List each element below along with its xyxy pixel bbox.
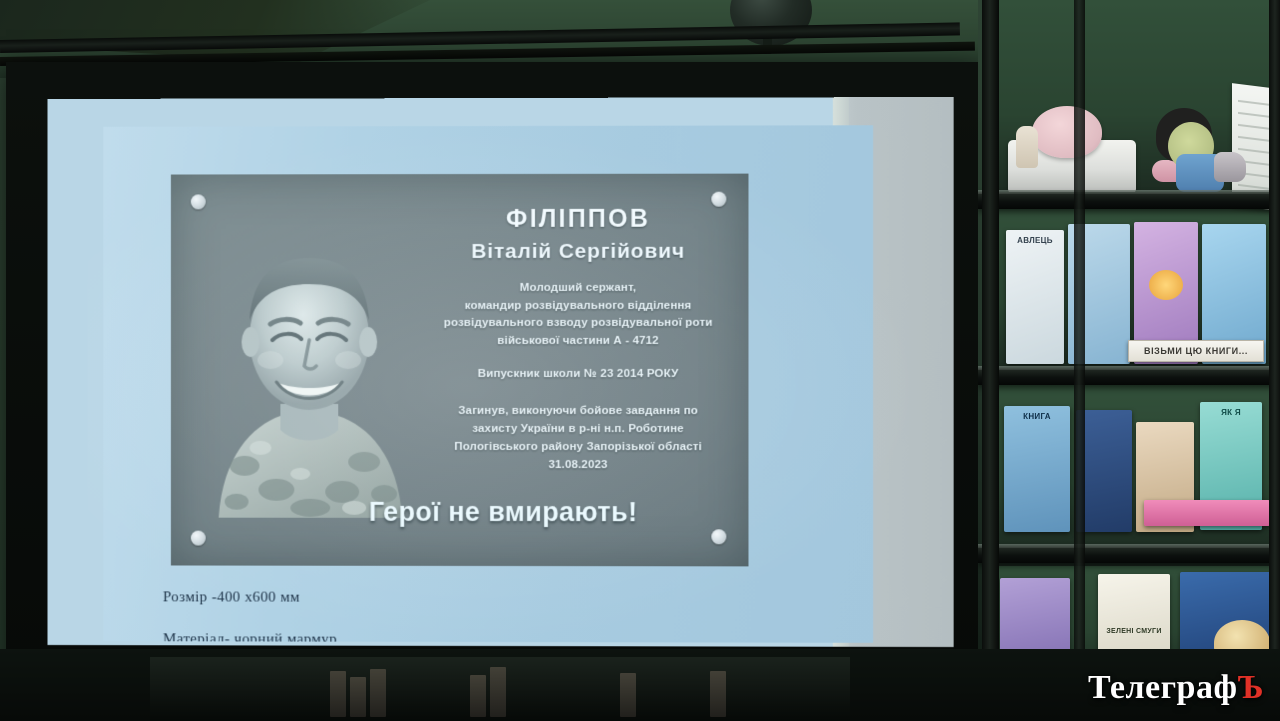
plaque-text-block: ФІЛІППОВ Віталій Сергійович Молодший сер… bbox=[420, 196, 736, 475]
shelf-board bbox=[978, 192, 1280, 209]
bookcase: АВЛЕЦЬ ВІЗЬМИ ЦЮ КНИГИ... КНИГА ЯК Я bbox=[978, 0, 1280, 721]
take-a-book-sign: ВІЗЬМИ ЦЮ КНИГИ... bbox=[1128, 340, 1264, 362]
book-cover-flat bbox=[1144, 500, 1270, 526]
plaque-school-line: Випускник школи № 23 2014 РОКУ bbox=[420, 368, 736, 380]
book-title: АВЛЕЦЬ bbox=[1009, 237, 1061, 246]
shelf-lip bbox=[978, 366, 1280, 370]
plaque-rank-line: військової частини А - 4712 bbox=[420, 333, 736, 351]
plaque-given-name: Віталій Сергійович bbox=[420, 238, 736, 264]
doll-shoe bbox=[1214, 152, 1246, 182]
shelf-three-items: КНИГА ЯК Я bbox=[996, 392, 1280, 544]
plaque-screw-top-left bbox=[191, 194, 206, 209]
soldier-portrait-engraving bbox=[215, 218, 404, 518]
book-title: КНИГА bbox=[1007, 413, 1067, 422]
book-illustration-sun bbox=[1149, 270, 1183, 300]
shelf-lip bbox=[978, 544, 1280, 548]
bookcase-post-left bbox=[982, 0, 999, 721]
plaque-death-line: Загинув, виконуючи бойове завдання по bbox=[420, 402, 736, 420]
telegraf-watermark: ТелеграфЪ bbox=[1088, 671, 1264, 705]
plaque-death-date: 31.08.2023 bbox=[420, 456, 736, 474]
projected-slide: ФІЛІППОВ Віталій Сергійович Молодший сер… bbox=[103, 125, 873, 643]
plaque-death-block: Загинув, виконуючи бойове завдання по за… bbox=[420, 402, 736, 475]
book-title: ЯК Я bbox=[1203, 409, 1259, 418]
book-cover: КНИГА bbox=[1004, 406, 1070, 532]
bottom-shelf-clutter bbox=[150, 657, 850, 721]
slide-caption-material: Матеріал- чорний мармур bbox=[163, 631, 632, 643]
shelf-board bbox=[978, 368, 1280, 385]
plaque-death-line: Пологівського району Запорізької області bbox=[420, 438, 736, 456]
plaque-rank-line: командир розвідувального відділення bbox=[420, 297, 736, 315]
bookcase-post-middle bbox=[1074, 0, 1085, 721]
memorial-plaque: ФІЛІППОВ Віталій Сергійович Молодший сер… bbox=[171, 174, 749, 567]
shelf-two-items: АВЛЕЦЬ ВІЗЬМИ ЦЮ КНИГИ... bbox=[998, 216, 1280, 366]
plush-doll bbox=[1150, 108, 1242, 194]
book-title: ЗЕЛЕНІ СМУГИ bbox=[1101, 628, 1167, 636]
projection-screen-surface: ФІЛІППОВ Віталій Сергійович Молодший сер… bbox=[48, 97, 954, 647]
watermark-main-text: Телеграф bbox=[1088, 669, 1238, 706]
ceramic-toy-label bbox=[1032, 106, 1102, 158]
ceramic-toy-figure bbox=[1016, 126, 1038, 168]
plaque-surname: ФІЛІППОВ bbox=[420, 206, 736, 234]
plaque-rank-line: розвідувального взводу розвідувальної ро… bbox=[420, 315, 736, 333]
shelf-board bbox=[978, 546, 1280, 563]
shelf-one-items bbox=[1002, 88, 1242, 198]
projection-screen-frame: ФІЛІППОВ Віталій Сергійович Молодший сер… bbox=[6, 62, 980, 682]
book-cover: АВЛЕЦЬ bbox=[1006, 230, 1064, 364]
plaque-death-line: захисту України в р-ні н.п. Роботине bbox=[420, 420, 736, 438]
shelf-lip bbox=[978, 190, 1280, 194]
plaque-rank-block: Молодший сержант, командир розвідувально… bbox=[420, 280, 736, 351]
room-scene: ФІЛІППОВ Віталій Сергійович Молодший сер… bbox=[0, 0, 1280, 721]
slide-caption-size: Розмір -400 х600 мм bbox=[163, 589, 632, 607]
plaque-screw-bottom-right bbox=[711, 529, 726, 544]
plaque-motto: Герої не вмирають! bbox=[288, 497, 718, 528]
watermark-hard-sign: Ъ bbox=[1237, 669, 1264, 706]
bookcase-post-right bbox=[1269, 0, 1280, 721]
plaque-screw-bottom-left bbox=[191, 531, 206, 546]
plaque-rank-line: Молодший сержант, bbox=[420, 280, 736, 298]
